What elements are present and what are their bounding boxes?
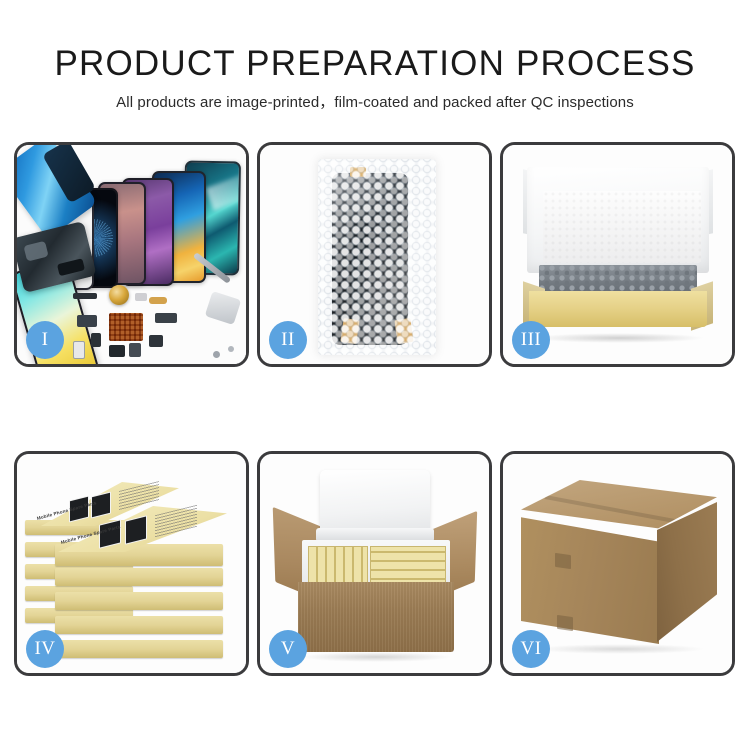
sim-tray-part-icon <box>73 341 85 359</box>
carton-tape-patch <box>557 615 573 631</box>
circuit-board-icon <box>109 313 143 341</box>
step-badge-3: III <box>512 321 550 359</box>
process-step-panel-4[interactable]: Mobile Phone Spare Parts Mobile Phone Sp… <box>14 451 249 676</box>
small-chip-part-icon <box>135 293 147 301</box>
step-badge-1: I <box>26 321 64 359</box>
carton-front-panel <box>298 582 454 652</box>
camera-module-part-icon <box>77 315 97 327</box>
carton-left-face <box>521 516 659 644</box>
carton-seam <box>544 495 691 526</box>
gold-contact-part-icon <box>149 297 167 304</box>
box-front-panel <box>529 291 707 327</box>
white-foam-lid <box>527 167 709 273</box>
sealed-shipping-carton <box>521 480 717 650</box>
flex-cable-part-icon <box>73 293 97 299</box>
process-step-panel-1[interactable]: I <box>14 142 249 367</box>
foam-texture <box>543 191 701 263</box>
battery-connector-part-icon <box>129 343 141 357</box>
drop-shadow <box>535 644 705 654</box>
page-title: PRODUCT PREPARATION PROCESS <box>0 0 750 84</box>
open-shipping-carton <box>276 470 474 656</box>
styrofoam-lid <box>320 470 430 536</box>
step-badge-4: IV <box>26 630 64 668</box>
bubble-wrap-package <box>318 159 436 355</box>
speaker-coil-icon <box>109 285 129 305</box>
carton-tape-patch <box>555 553 571 569</box>
retail-box <box>55 592 223 610</box>
vibrator-part-icon <box>155 313 177 323</box>
screw-icon <box>213 351 220 358</box>
process-step-grid: I II <box>14 142 736 676</box>
page-subtitle: All products are image-printed，film-coat… <box>0 84 750 113</box>
process-step-panel-6[interactable]: VI <box>500 451 735 676</box>
step-badge-6: VI <box>512 630 550 668</box>
speaker-part-icon <box>109 345 125 357</box>
step-badge-2: II <box>269 321 307 359</box>
retail-box <box>55 568 223 586</box>
page-header: PRODUCT PREPARATION PROCESS All products… <box>0 0 750 113</box>
connector-part-icon <box>91 333 101 347</box>
drop-shadow <box>300 652 452 662</box>
process-step-panel-5[interactable]: V <box>257 451 492 676</box>
open-inner-box <box>523 167 713 337</box>
charging-port-part-icon <box>149 335 163 347</box>
process-step-panel-3[interactable]: III <box>500 142 735 367</box>
process-step-panel-2[interactable]: II <box>257 142 492 367</box>
drop-shadow <box>533 333 705 343</box>
retail-box <box>55 616 223 634</box>
screw-icon <box>228 346 234 352</box>
plastic-sheen-overlay <box>318 159 436 355</box>
corrugated-texture <box>298 582 454 652</box>
retail-box <box>55 640 223 658</box>
step-badge-5: V <box>269 630 307 668</box>
foam-sheet-face <box>543 191 701 263</box>
